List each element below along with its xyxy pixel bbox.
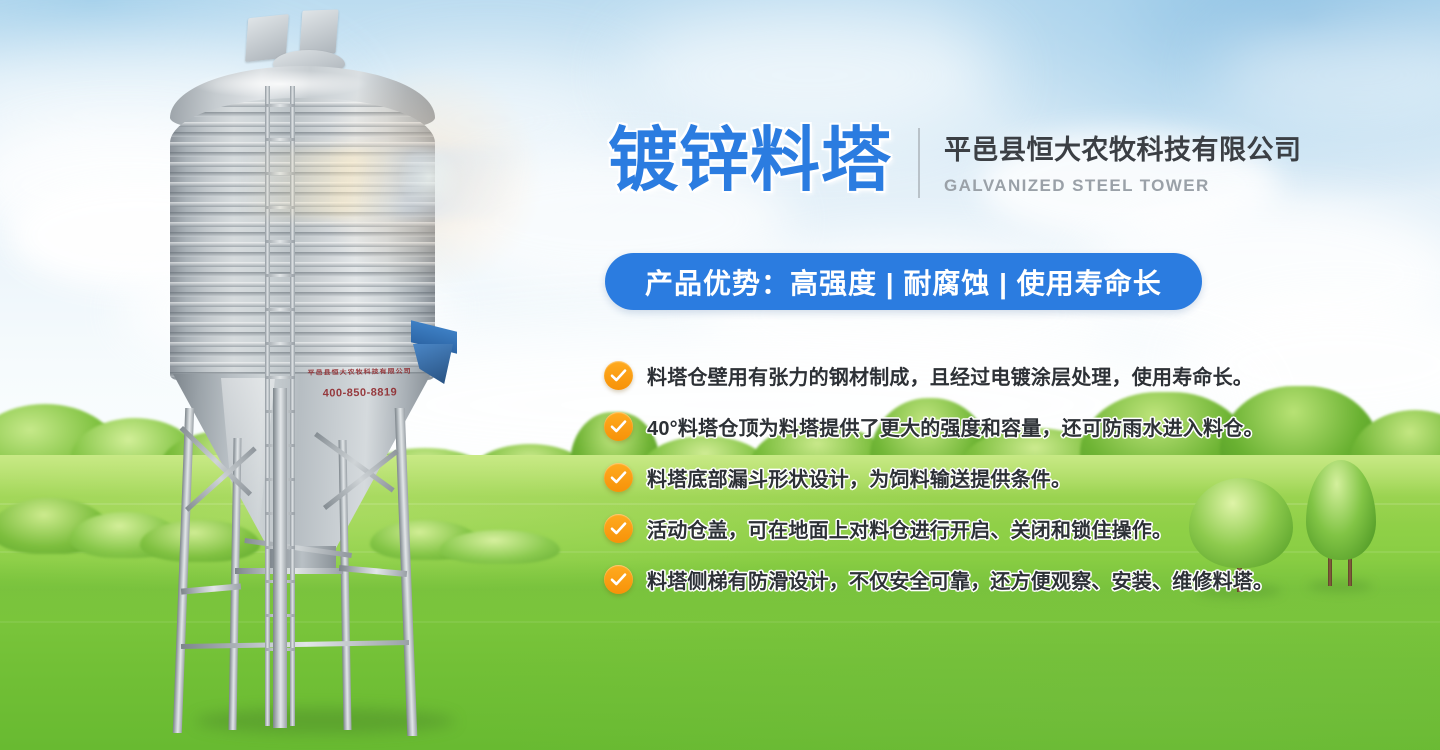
roof-vent-icon xyxy=(299,9,338,54)
company-block: 平邑县恒大农牧科技有限公司 GALVANIZED STEEL TOWER xyxy=(944,118,1302,196)
ladder-rail xyxy=(290,86,295,726)
feature-item: 活动仓盖，可在地面上对料仓进行开启、关闭和锁住操作。 xyxy=(604,503,1304,554)
feature-item: 料塔底部漏斗形状设计，为饲料输送提供条件。 xyxy=(604,452,1304,503)
feature-item: 40°料塔仓顶为料塔提供了更大的强度和容量，还可防雨水进入料仓。 xyxy=(604,401,1304,452)
silo-brace-horizontal xyxy=(181,640,409,649)
ladder-rung xyxy=(265,342,295,345)
check-circle-icon xyxy=(604,412,633,441)
ladder-rung xyxy=(265,240,295,243)
lawn-tree xyxy=(1300,460,1380,600)
feature-text: 40°料塔仓顶为料塔提供了更大的强度和容量，还可防雨水进入料仓。 xyxy=(647,412,1264,441)
ladder-rung xyxy=(265,138,295,141)
feature-text: 料塔仓壁用有张力的钢材制成，且经过电镀涂层处理，使用寿命长。 xyxy=(647,361,1253,390)
title-divider xyxy=(918,128,920,198)
page-title: 镀锌料塔 xyxy=(608,118,892,202)
silo-leg xyxy=(173,408,194,733)
ladder-rung xyxy=(265,206,295,209)
hopper-phone-text: 400-850-8819 xyxy=(300,382,420,405)
tree-shadow xyxy=(1308,580,1372,592)
feature-text: 料塔侧梯有防滑设计，不仅安全可靠，还方便观察、安装、维修料塔。 xyxy=(647,565,1273,594)
ladder-rung xyxy=(265,308,295,311)
advantage-pill-label: 产品优势：高强度 | 耐腐蚀 | 使用寿命长 xyxy=(645,262,1162,302)
advantage-pill: 产品优势：高强度 | 耐腐蚀 | 使用寿命长 xyxy=(605,253,1202,310)
check-circle-icon xyxy=(604,361,633,390)
feature-text: 料塔底部漏斗形状设计，为饲料输送提供条件。 xyxy=(647,463,1071,492)
company-name-en: GALVANIZED STEEL TOWER xyxy=(944,176,1302,196)
ladder-rail xyxy=(265,86,270,726)
check-circle-icon xyxy=(604,514,633,543)
title-row: 镀锌料塔 平邑县恒大农牧科技有限公司 GALVANIZED STEEL TOWE… xyxy=(608,118,1302,202)
ladder-rung xyxy=(265,172,295,175)
ladder-rung xyxy=(265,274,295,277)
feature-text: 活动仓盖，可在地面上对料仓进行开启、关闭和锁住操作。 xyxy=(647,514,1172,543)
check-circle-icon xyxy=(604,565,633,594)
galvanized-silo-image: 平邑县恒大农牧科技有限公司 400-850-8819 xyxy=(95,8,495,748)
company-name: 平邑县恒大农牧科技有限公司 xyxy=(944,132,1302,168)
check-circle-icon xyxy=(604,463,633,492)
ladder-support-column xyxy=(273,388,287,728)
feature-list: 料塔仓壁用有张力的钢材制成，且经过电镀涂层处理，使用寿命长。 40°料塔仓顶为料… xyxy=(604,350,1304,605)
feature-item: 料塔侧梯有防滑设计，不仅安全可靠，还方便观察、安装、维修料塔。 xyxy=(604,554,1304,605)
hero-banner: 平邑县恒大农牧科技有限公司 400-850-8819 xyxy=(0,0,1440,750)
silo-body xyxy=(170,98,435,380)
ladder-rung xyxy=(265,376,295,379)
banner-content: 镀锌料塔 平邑县恒大农牧科技有限公司 GALVANIZED STEEL TOWE… xyxy=(604,0,1304,750)
hopper-company-text: 平邑县恒大农牧科技有限公司 xyxy=(300,366,420,380)
silo-brace-horizontal xyxy=(339,565,407,577)
feature-item: 料塔仓壁用有张力的钢材制成，且经过电镀涂层处理，使用寿命长。 xyxy=(604,350,1304,401)
ladder-rung xyxy=(265,104,295,107)
tree-canopy xyxy=(1306,460,1376,560)
